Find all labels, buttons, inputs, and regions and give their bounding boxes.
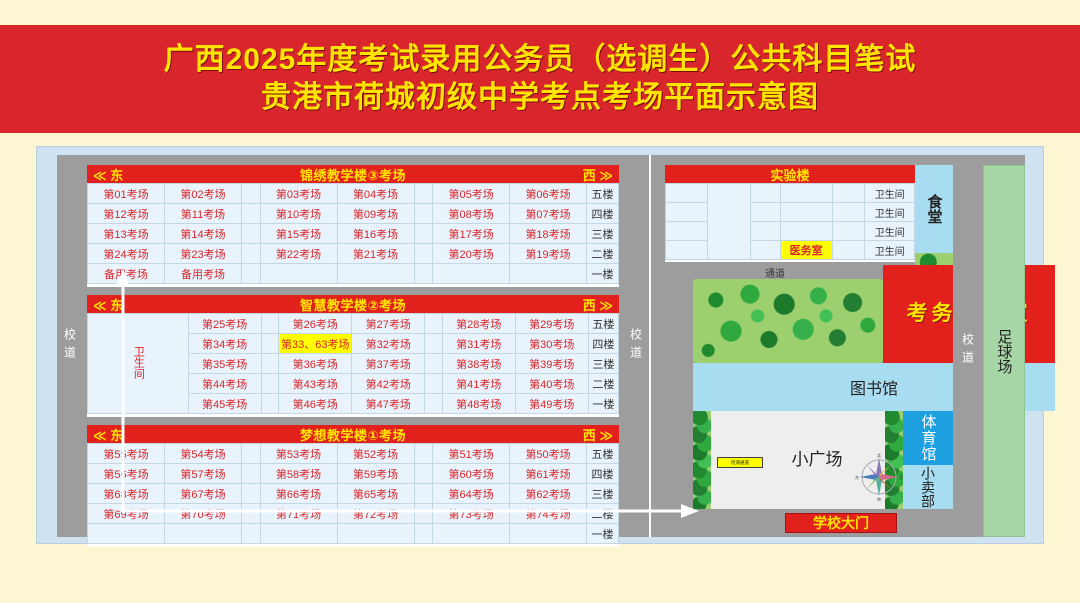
lab-stairwell-cell: [708, 184, 750, 260]
floor-label: 三楼: [587, 224, 619, 244]
room-cell: [510, 264, 587, 284]
lab-room-cell[interactable]: [666, 184, 708, 203]
building-2-west-label: 西 ≫: [583, 295, 613, 313]
room-cell[interactable]: 第05考场: [433, 184, 510, 204]
corridor-cell: [241, 184, 260, 204]
lab-room-cell[interactable]: [750, 184, 780, 203]
room-cell[interactable]: 第65考场: [337, 484, 414, 504]
banner-line-1: 广西2025年度考试录用公务员（选调生）公共科目笔试: [164, 41, 917, 79]
room-cell[interactable]: 第10考场: [260, 204, 337, 224]
room-cell[interactable]: 第72考场: [337, 504, 414, 524]
lab-building-block: 实验楼 卫生间: [665, 165, 915, 262]
football-field-label: 足球场: [994, 329, 1015, 374]
room-cell[interactable]: 第40考场: [515, 374, 588, 394]
corridor-cell: [414, 264, 433, 284]
room-cell[interactable]: 第17考场: [433, 224, 510, 244]
lab-room-cell[interactable]: [666, 203, 708, 222]
table-row: 第12考场 第11考场 第10考场 第09考场 第08考场 第07考场 四楼: [88, 204, 619, 224]
building-3-east-label: ≪ 东: [93, 165, 123, 183]
lab-room-cell[interactable]: [750, 222, 780, 241]
restroom-cell: 卫生间: [865, 222, 915, 241]
floor-label: 五楼: [587, 184, 619, 204]
floor-label: 四楼: [587, 464, 619, 484]
room-cell[interactable]: 第42考场: [352, 374, 425, 394]
garden-greenery: [693, 279, 883, 363]
room-cell[interactable]: 第21考场: [337, 244, 414, 264]
table-row: 卫生间: [666, 222, 915, 241]
room-cell[interactable]: 第47考场: [352, 394, 425, 414]
floor-label: 三楼: [587, 484, 619, 504]
floor-label: 一楼: [587, 524, 619, 544]
floor-label: 二楼: [587, 244, 619, 264]
compass-south: 南: [877, 496, 881, 501]
road-left-label: 校道: [62, 328, 79, 364]
lab-room-cell[interactable]: [832, 241, 864, 260]
room-cell[interactable]: 第31考场: [442, 334, 515, 354]
road-middle-label: 校道: [628, 328, 645, 364]
restroom-cell: 卫生间: [865, 184, 915, 203]
corridor-cell: [425, 374, 443, 394]
floor-label: 一楼: [588, 394, 618, 414]
school-gate-block[interactable]: 学校大门: [785, 513, 897, 533]
lab-room-cell[interactable]: [750, 241, 780, 260]
building-2-title: 智慧教学楼②考场: [300, 295, 406, 314]
room-cell[interactable]: 第37考场: [352, 354, 425, 374]
room-cell[interactable]: 第02考场: [164, 184, 241, 204]
table-row: 第01考场 第02考场 第03考场 第04考场 第05考场 第06考场 五楼: [88, 184, 619, 204]
room-cell[interactable]: 第18考场: [510, 224, 587, 244]
room-cell[interactable]: 第06考场: [510, 184, 587, 204]
floor-label: 二楼: [588, 374, 618, 394]
corridor-cell: [414, 204, 433, 224]
corridor-cell: [414, 524, 433, 544]
room-cell[interactable]: 第59考场: [337, 464, 414, 484]
shop-label: 小卖部: [918, 466, 938, 508]
corridor-cell: [414, 484, 433, 504]
room-cell[interactable]: 第61考场: [510, 464, 587, 484]
room-cell[interactable]: 第07考场: [510, 204, 587, 224]
room-cell[interactable]: 第50考场: [510, 444, 587, 464]
compass-rose-icon: 北 南 西 东: [855, 453, 903, 501]
room-cell[interactable]: 第38考场: [442, 354, 515, 374]
floor-label: 四楼: [588, 334, 618, 354]
room-cell[interactable]: 第24考场: [88, 244, 165, 264]
room-cell[interactable]: 第62考场: [510, 484, 587, 504]
library-label: 图书馆: [850, 375, 898, 399]
corridor-cell: [425, 354, 443, 374]
room-cell[interactable]: 第04考场: [337, 184, 414, 204]
room-cell[interactable]: 第32考场: [352, 334, 425, 354]
corridor-cell: [414, 244, 433, 264]
restroom-cell: 卫生间: [865, 241, 915, 260]
room-cell[interactable]: 第22考场: [260, 244, 337, 264]
lab-room-cell[interactable]: [832, 203, 864, 222]
lab-room-cell[interactable]: [832, 222, 864, 241]
clinic-cell[interactable]: 医务室: [780, 241, 832, 260]
room-cell[interactable]: 第73考场: [433, 504, 510, 524]
room-cell[interactable]: 第13考场: [88, 224, 165, 244]
room-cell[interactable]: 第23考场: [164, 244, 241, 264]
building-3-title: 锦绣教学楼③考场: [300, 165, 406, 184]
floor-label: 一楼: [587, 264, 619, 284]
table-row: 一楼: [88, 524, 619, 544]
corridor-cell: [241, 524, 260, 544]
corridor-cell: [414, 224, 433, 244]
room-cell[interactable]: 第01考场: [88, 184, 165, 204]
room-cell[interactable]: 第52考场: [337, 444, 414, 464]
room-cell: [337, 264, 414, 284]
campus-ground: 校道 校道 校道 ≪ 东 锦绣教学楼③考场 西 ≫: [57, 155, 1025, 537]
detection-lane-label: 检测通道: [731, 459, 749, 465]
room-cell[interactable]: 第64考场: [433, 484, 510, 504]
room-cell[interactable]: 第15考场: [260, 224, 337, 244]
canteen-block[interactable]: 食堂: [915, 165, 953, 253]
room-cell[interactable]: 第49考场: [515, 394, 588, 414]
room-cell[interactable]: 第27考场: [352, 314, 425, 334]
corridor-cell: [241, 204, 260, 224]
corridor-cell: [241, 224, 260, 244]
road-middle: 校道: [623, 155, 651, 537]
floor-label: 五楼: [587, 444, 619, 464]
room-cell: [510, 524, 587, 544]
room-cell[interactable]: 第08考场: [433, 204, 510, 224]
canteen-label: 食堂: [924, 194, 945, 224]
room-cell[interactable]: 第20考场: [433, 244, 510, 264]
floor-label: 五楼: [588, 314, 618, 334]
compass-north: 北: [877, 453, 881, 458]
room-cell: [433, 524, 510, 544]
lab-building-title: 实验楼: [770, 165, 809, 184]
room-cell[interactable]: 第12考场: [88, 204, 165, 224]
room-cell: [337, 524, 414, 544]
lab-room-cell[interactable]: [832, 184, 864, 203]
room-cell: [164, 524, 241, 544]
passage-label: 通道: [765, 265, 785, 280]
school-gate-label: 学校大门: [813, 513, 869, 533]
building-3-header: ≪ 东 锦绣教学楼③考场 西 ≫: [87, 165, 619, 183]
room-cell[interactable]: 第28考场: [442, 314, 515, 334]
building-1-west-label: 西 ≫: [583, 425, 613, 443]
room-cell[interactable]: 第30考场: [515, 334, 588, 354]
floor-label: 四楼: [587, 204, 619, 224]
plaza-label: 小广场: [792, 445, 843, 470]
title-banner: 广西2025年度考试录用公务员（选调生）公共科目笔试 贵港市荷城初级中学考点考场…: [0, 25, 1080, 133]
lab-room-cell[interactable]: [780, 184, 832, 203]
road-right-label: 校道: [960, 333, 977, 369]
lab-building-table: 卫生间 卫生间 卫生间: [665, 183, 915, 260]
shop-block[interactable]: 小卖部: [903, 465, 953, 509]
floor-label: 三楼: [588, 354, 618, 374]
room-cell[interactable]: 第41考场: [442, 374, 515, 394]
table-row: 医务室 卫生间: [666, 241, 915, 260]
floor-label: 二楼: [587, 504, 619, 524]
road-right: 校道: [953, 165, 983, 537]
gym-label: 体育馆: [918, 414, 939, 462]
banner-line-2: 贵港市荷城初级中学考点考场平面示意图: [261, 79, 819, 117]
compass-east: 东: [855, 474, 859, 480]
room-cell: [260, 524, 337, 544]
table-row: 第13考场 第14考场 第15考场 第16考场 第17考场 第18考场 三楼: [88, 224, 619, 244]
room-cell[interactable]: 第14考场: [164, 224, 241, 244]
corridor-cell: [414, 444, 433, 464]
lab-room-cell[interactable]: [780, 222, 832, 241]
restroom-cell: 卫生间: [865, 203, 915, 222]
lab-room-cell[interactable]: [750, 203, 780, 222]
football-field-block[interactable]: 足球场: [983, 165, 1025, 537]
room-cell: [433, 264, 510, 284]
road-left: 校道: [57, 155, 83, 537]
greenery-plaza-left: [693, 411, 711, 509]
table-row: 卫生间: [666, 184, 915, 203]
room-cell[interactable]: 第51考场: [433, 444, 510, 464]
lab-room-cell[interactable]: [780, 203, 832, 222]
floorplan-canvas: 校道 校道 校道 ≪ 东 锦绣教学楼③考场 西 ≫: [36, 146, 1044, 544]
room-cell[interactable]: 第74考场: [510, 504, 587, 524]
corridor-cell: [425, 314, 443, 334]
gym-block[interactable]: 体育馆: [903, 411, 953, 465]
room-cell[interactable]: 第60考场: [433, 464, 510, 484]
corridor-cell: [414, 504, 433, 524]
lab-room-cell[interactable]: [666, 241, 708, 260]
room-cell[interactable]: 第03考场: [260, 184, 337, 204]
building-1-title: 梦想教学楼①考场: [300, 425, 406, 444]
corridor-cell: [241, 244, 260, 264]
lab-room-cell[interactable]: [666, 222, 708, 241]
entrance-flow-arrow: [83, 265, 313, 517]
room-cell[interactable]: 第09考场: [337, 204, 414, 224]
corridor-cell: [414, 464, 433, 484]
building-3-west-label: 西 ≫: [583, 165, 613, 183]
passage-label-wrap: 通道: [745, 265, 805, 279]
corridor-cell: [414, 184, 433, 204]
table-row: 卫生间: [666, 203, 915, 222]
room-cell[interactable]: 第11考场: [164, 204, 241, 224]
room-cell[interactable]: 第29考场: [515, 314, 588, 334]
detection-lane-badge[interactable]: 检测通道: [717, 457, 763, 468]
room-cell[interactable]: 第19考场: [510, 244, 587, 264]
lab-building-header: 实验楼: [665, 165, 915, 183]
corridor-cell: [425, 334, 443, 354]
corridor-cell: [425, 394, 443, 414]
room-cell: [88, 524, 165, 544]
room-cell[interactable]: 第48考场: [442, 394, 515, 414]
room-cell[interactable]: 第39考场: [515, 354, 588, 374]
table-row: 第24考场 第23考场 第22考场 第21考场 第20考场 第19考场 二楼: [88, 244, 619, 264]
room-cell[interactable]: 第16考场: [337, 224, 414, 244]
